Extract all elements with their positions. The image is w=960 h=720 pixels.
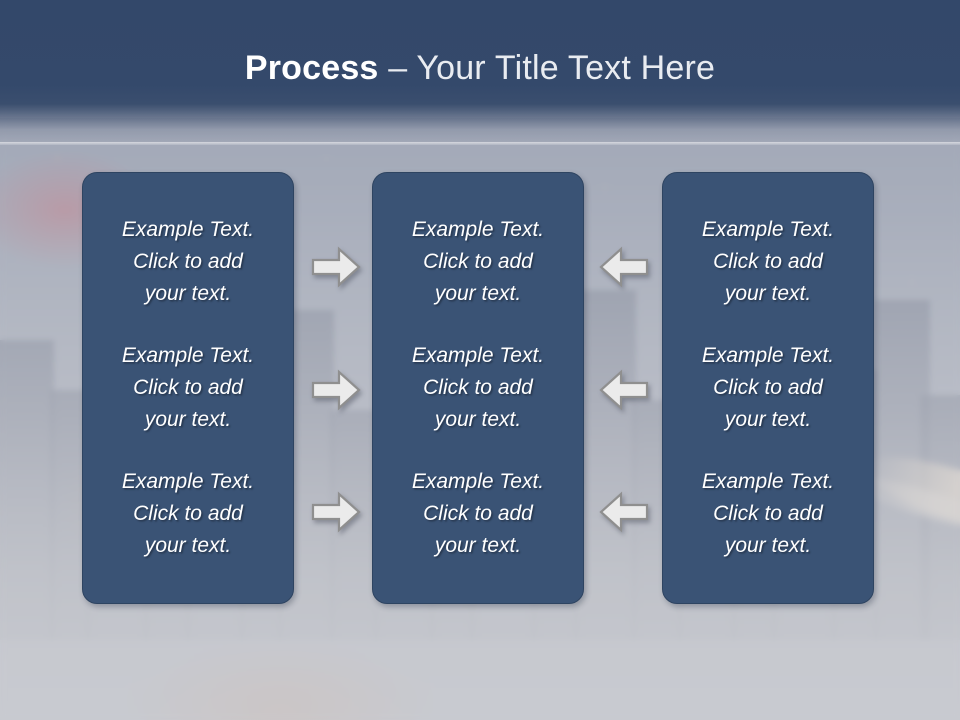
page-title-rest: – Your Title Text Here <box>379 49 716 87</box>
process-box-left[interactable]: Example Text. Click to add your text. Ex… <box>82 172 294 604</box>
page-title-strong: Process <box>245 49 379 87</box>
arrow-left-icon <box>599 490 649 534</box>
arrow-right-icon <box>311 368 361 412</box>
slide-canvas: Process – Your Title Text Here Example T… <box>0 0 960 720</box>
process-text[interactable]: Example Text. Click to add your text. <box>95 214 281 310</box>
process-text[interactable]: Example Text. Click to add your text. <box>675 466 861 562</box>
process-text[interactable]: Example Text. Click to add your text. <box>95 340 281 436</box>
arrow-right-icon <box>311 245 361 289</box>
process-text[interactable]: Example Text. Click to add your text. <box>385 466 571 562</box>
process-text[interactable]: Example Text. Click to add your text. <box>385 340 571 436</box>
header-divider <box>0 142 960 145</box>
page-title: Process – Your Title Text Here <box>0 46 960 90</box>
process-text[interactable]: Example Text. Click to add your text. <box>95 466 281 562</box>
header-fade <box>0 118 960 144</box>
process-box-right[interactable]: Example Text. Click to add your text. Ex… <box>662 172 874 604</box>
process-text[interactable]: Example Text. Click to add your text. <box>385 214 571 310</box>
arrow-left-icon <box>599 245 649 289</box>
arrow-left-icon <box>599 368 649 412</box>
process-text[interactable]: Example Text. Click to add your text. <box>675 214 861 310</box>
process-box-center[interactable]: Example Text. Click to add your text. Ex… <box>372 172 584 604</box>
process-text[interactable]: Example Text. Click to add your text. <box>675 340 861 436</box>
arrow-right-icon <box>311 490 361 534</box>
